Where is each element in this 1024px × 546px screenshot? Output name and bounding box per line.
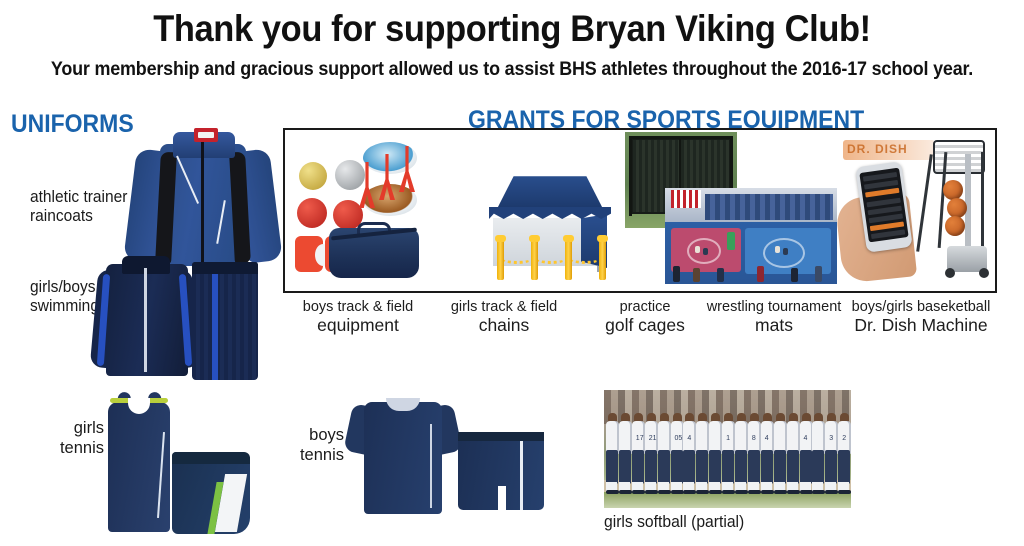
- flyer-page: Thank you for supporting Bryan Viking Cl…: [0, 0, 1024, 546]
- canopy-tent-and-chains-image: [485, 174, 615, 280]
- uniform-label-girls-tennis: girls tennis: [0, 418, 104, 458]
- phone-app-row: [871, 229, 905, 239]
- dr-dish-logo-text: DR. DISH: [847, 142, 908, 156]
- grant-caption-wrestling-mats: wrestling tournament mats: [700, 300, 848, 334]
- uniform-label-raincoats: athletic trainer raincoats: [30, 188, 127, 226]
- grant-caption-line2: golf cages: [585, 317, 705, 335]
- girls-softball-photo: 1721054184432: [604, 390, 851, 508]
- grant-caption-golf-cages: practice golf cages: [585, 300, 705, 334]
- grant-caption-line2: chains: [432, 317, 576, 335]
- grant-caption-line2: equipment: [284, 317, 432, 335]
- grant-caption-basketball-dr-dish: boys/girls baseketball Dr. Dish Machine: [845, 300, 997, 334]
- boys-tennis-uniform-image: [360, 394, 556, 522]
- phone-app-row: [865, 188, 899, 198]
- track-and-field-equipment-image: [291, 136, 449, 286]
- grant-caption-line1: boys track & field: [284, 300, 432, 315]
- uniforms-section-heading: UNIFORMS: [11, 110, 134, 139]
- grant-caption-line2: mats: [700, 317, 848, 335]
- dr-dish-basketball-machine-image: DR. DISH: [833, 134, 989, 284]
- grants-image-panel: DR. DISH: [283, 128, 997, 293]
- swimming-warmups-image: [100, 250, 260, 380]
- grant-caption-line1: girls track & field: [432, 300, 576, 315]
- page-title: Thank you for supporting Bryan Viking Cl…: [36, 8, 988, 50]
- softball-caption: girls softball (partial): [604, 513, 744, 532]
- grant-caption-line1: boys/girls baseketball: [845, 300, 997, 315]
- page-subtitle: Your membership and gracious support all…: [41, 58, 983, 81]
- grant-caption-girls-track-field: girls track & field chains: [432, 300, 576, 334]
- grant-caption-line2: Dr. Dish Machine: [845, 317, 997, 335]
- girls-tennis-uniform-image: [108, 392, 248, 544]
- grant-caption-line1: practice: [585, 300, 705, 315]
- grant-caption-boys-track-field: boys track & field equipment: [284, 300, 432, 334]
- wrestling-tournament-photo: [665, 188, 837, 284]
- uniform-label-boys-tennis: boys tennis: [240, 425, 344, 465]
- grant-caption-line1: wrestling tournament: [700, 300, 848, 315]
- uniform-label-swimming: girls/boys swimming: [30, 278, 99, 316]
